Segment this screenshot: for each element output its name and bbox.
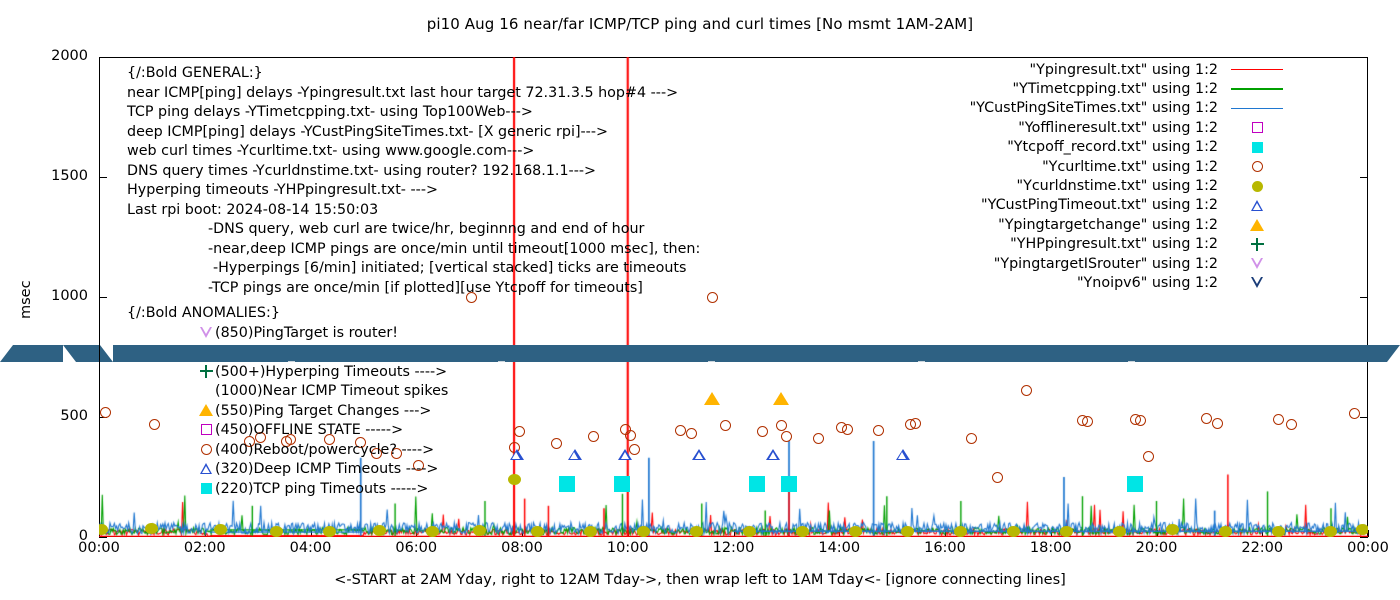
legend-item-key: [1226, 254, 1288, 273]
x-axis-tick: [628, 530, 629, 537]
x-axis-tick-label: 02:00: [145, 540, 265, 556]
x-axis-tick: [1157, 530, 1158, 537]
legend-item-label: "YpingtargetISrouter" using 1:2: [994, 256, 1218, 272]
x-axis-tick-label: 22:00: [1202, 540, 1322, 556]
annotation-line: (500+)Hyperping Timeouts ---->: [215, 365, 447, 379]
legend-item-label: "Ypingtargetchange" using 1:2: [998, 217, 1218, 233]
legend-item-label: "YCustPingTimeout.txt" using 1:2: [981, 197, 1218, 213]
legend-item-label: "Ycurltime.txt" using 1:2: [1042, 159, 1218, 175]
circle-open-brown-glyph: [201, 444, 212, 455]
overlay-seam-a: [63, 345, 76, 362]
overlay-tick: [498, 361, 505, 362]
legend-item-key: [1226, 176, 1288, 195]
legend-item: "Ytcpoff_record.txt" using 1:2: [858, 138, 1288, 157]
triangle-down-violet-glyph: [200, 327, 212, 338]
legend-line-swatch: [1231, 108, 1283, 110]
annotation-line: Hyperping timeouts -YHPpingresult.txt- -…: [127, 183, 438, 197]
x-axis-tick: [1051, 530, 1052, 537]
x-axis-tick: [1262, 530, 1263, 537]
legend-item: "Ypingtargetchange" using 1:2: [858, 215, 1288, 234]
legend-item: "Ynoipv6" using 1:2: [858, 273, 1288, 292]
legend-item-label: "YCustPingSiteTimes.txt" using 1:2: [970, 100, 1218, 116]
x-axis-tick-label: 20:00: [1097, 540, 1217, 556]
annotation-line: Last rpi boot: 2024-08-14 15:50:03: [127, 203, 378, 217]
y-axis-tick: [99, 537, 107, 538]
annotation-line: DNS query times -Ycurldnstime.txt- using…: [127, 164, 596, 178]
square-open-magenta-glyph: [201, 424, 212, 435]
legend-item: "YpingtargetISrouter" using 1:2: [858, 254, 1288, 273]
legend-square-open-icon: [1252, 122, 1263, 133]
annotation-line: {/:Bold ANOMALIES:}: [127, 306, 280, 320]
anomaly-marker-circle-open-brown-icon: [198, 442, 214, 457]
legend-triangle-down-open-icon: [1251, 277, 1263, 288]
y-axis-tick-label: 1500: [10, 168, 88, 184]
legend-item-label: "Ycurldnstime.txt" using 1:2: [1017, 178, 1218, 194]
y-axis-tick: [99, 57, 107, 58]
y-axis-tick-right: [1360, 177, 1368, 178]
legend-item-label: "Ynoipv6" using 1:2: [1077, 275, 1218, 291]
anomaly-marker-square-filled-cyan-icon: [198, 481, 214, 496]
overlay-tick: [918, 361, 925, 362]
scroll-overlay-bar[interactable]: [0, 345, 1400, 362]
y-axis-tick-right: [1360, 57, 1368, 58]
legend-item-label: "Yofflineresult.txt" using 1:2: [1018, 120, 1218, 136]
legend-item: "YHPpingresult.txt" using 1:2: [858, 235, 1288, 254]
legend-triangle-down-open-icon: [1251, 258, 1263, 269]
annotation-line: (220)TCP ping Timeouts ----->: [215, 482, 428, 496]
legend-item-key: [1226, 273, 1288, 292]
annotation-line: -TCP pings are once/min [if plotted][use…: [208, 281, 643, 295]
triangle-up-orange-glyph: [199, 404, 213, 416]
x-axis-tick-label: 06:00: [356, 540, 476, 556]
legend-item: "Ycurltime.txt" using 1:2: [858, 157, 1288, 176]
y-axis-tick-right: [1360, 537, 1368, 538]
anomaly-marker-triangle-up-orange-icon: [198, 403, 214, 418]
legend-triangle-up-filled-icon: [1250, 219, 1264, 231]
legend-plus-icon: [1251, 238, 1264, 251]
annotation-line: (550)Ping Target Changes --->: [215, 404, 431, 418]
y-axis-tick-label: 1000: [10, 288, 88, 304]
y-axis-tick: [99, 297, 107, 298]
legend-item: "Yofflineresult.txt" using 1:2: [858, 118, 1288, 137]
x-axis-tick-label: 14:00: [779, 540, 899, 556]
legend-item-key: [1226, 79, 1288, 98]
annotation-line: (850)PingTarget is router!: [215, 326, 398, 340]
overlay-notch-right: [1387, 345, 1400, 362]
y-axis-tick-right: [1360, 417, 1368, 418]
x-axis-tick-label: 00:00: [39, 540, 159, 556]
triangle-up-open-blue-glyph: [200, 463, 212, 474]
x-axis-tick: [1368, 530, 1369, 537]
legend-item: "Ypingresult.txt" using 1:2: [858, 60, 1288, 79]
legend-circle-filled-icon: [1252, 181, 1263, 192]
x-axis-tick-label: 16:00: [885, 540, 1005, 556]
overlay-seam-b: [100, 345, 113, 362]
x-axis-tick: [311, 530, 312, 537]
annotation-line: near ICMP[ping] delays -Ypingresult.txt …: [127, 86, 678, 100]
plus-green-glyph: [200, 365, 213, 378]
legend-item-key: [1226, 60, 1288, 79]
legend-line-swatch: [1231, 69, 1283, 71]
x-axis-tick: [945, 530, 946, 537]
square-filled-cyan-glyph: [201, 483, 212, 494]
annotation-line: (450)OFFLINE STATE ----->: [215, 423, 403, 437]
annotation-line: -Hyperpings [6/min] initiated; [vertical…: [213, 261, 686, 275]
y-axis-tick-label: 2000: [10, 48, 88, 64]
legend-item-key: [1226, 235, 1288, 254]
anomaly-marker-triangle-up-open-blue-icon: [198, 461, 214, 476]
legend-circle-open-icon: [1252, 161, 1263, 172]
x-axis-tick-label: 00:00: [1308, 540, 1400, 556]
legend-item-key: [1226, 99, 1288, 118]
x-axis-title: <-START at 2AM Yday, right to 12AM Tday-…: [0, 572, 1400, 588]
x-axis-tick: [839, 530, 840, 537]
annotation-line: web curl times -Ycurltime.txt- using www…: [127, 144, 534, 158]
chart-page: pi10 Aug 16 near/far ICMP/TCP ping and c…: [0, 0, 1400, 600]
anomaly-marker-triangle-down-violet-icon: [198, 325, 214, 340]
overlay-notch-left: [0, 345, 13, 362]
legend-item-key: [1226, 215, 1288, 234]
x-axis-tick-label: 10:00: [568, 540, 688, 556]
annotation-line: -near,deep ICMP pings are once/min until…: [208, 242, 700, 256]
legend-line-swatch: [1231, 88, 1283, 90]
legend-item: "YTimetcpping.txt" using 1:2: [858, 79, 1288, 98]
annotation-line: deep ICMP[ping] delays -YCustPingSiteTim…: [127, 125, 608, 139]
y-axis-tick-label: 500: [10, 408, 88, 424]
annotation-line: {/:Bold GENERAL:}: [127, 66, 263, 80]
legend-item-key: [1226, 138, 1288, 157]
x-axis-tick: [522, 530, 523, 537]
anomaly-marker-plus-green-icon: [198, 364, 214, 379]
overlay-tick: [708, 361, 715, 362]
y-axis-tick-right: [1360, 297, 1368, 298]
legend-item-label: "YHPpingresult.txt" using 1:2: [1010, 236, 1218, 252]
legend-triangle-up-open-icon: [1251, 200, 1263, 211]
chart-title: pi10 Aug 16 near/far ICMP/TCP ping and c…: [0, 15, 1400, 33]
y-axis-tick: [99, 177, 107, 178]
x-axis-tick: [416, 530, 417, 537]
legend-item: "YCustPingSiteTimes.txt" using 1:2: [858, 99, 1288, 118]
x-axis-tick-label: 18:00: [991, 540, 1111, 556]
annotation-line: TCP ping delays -YTimetcpping.txt- using…: [127, 105, 533, 119]
legend-item-label: "Ypingresult.txt" using 1:2: [1030, 62, 1218, 78]
annotation-line: (400)Reboot/powercycle? ---->: [215, 443, 434, 457]
y-axis-line-overlay: [99, 345, 100, 362]
legend-item-key: [1226, 118, 1288, 137]
y-axis-tick: [99, 417, 107, 418]
legend-item-label: "YTimetcpping.txt" using 1:2: [1012, 81, 1218, 97]
annotation-line: (1000)Near ICMP Timeout spikes: [215, 384, 448, 398]
x-axis-tick-label: 12:00: [674, 540, 794, 556]
overlay-tick: [288, 361, 295, 362]
x-axis-tick-label: 08:00: [462, 540, 582, 556]
anomaly-marker-square-open-magenta-icon: [198, 422, 214, 437]
legend-item: "Ycurldnstime.txt" using 1:2: [858, 176, 1288, 195]
x-axis-tick: [99, 530, 100, 537]
chart-legend: "Ypingresult.txt" using 1:2"YTimetcpping…: [858, 60, 1288, 293]
legend-item-label: "Ytcpoff_record.txt" using 1:2: [1007, 139, 1218, 155]
annotation-line: -DNS query, web curl are twice/hr, begin…: [208, 222, 644, 236]
legend-item-key: [1226, 157, 1288, 176]
x-axis-tick: [734, 530, 735, 537]
legend-item-key: [1226, 196, 1288, 215]
legend-square-filled-icon: [1252, 142, 1263, 153]
annotation-line: (320)Deep ICMP Timeouts ---->: [215, 462, 438, 476]
x-axis-tick: [205, 530, 206, 537]
x-axis-tick-label: 04:00: [251, 540, 371, 556]
legend-item: "YCustPingTimeout.txt" using 1:2: [858, 196, 1288, 215]
overlay-tick: [1128, 361, 1135, 362]
